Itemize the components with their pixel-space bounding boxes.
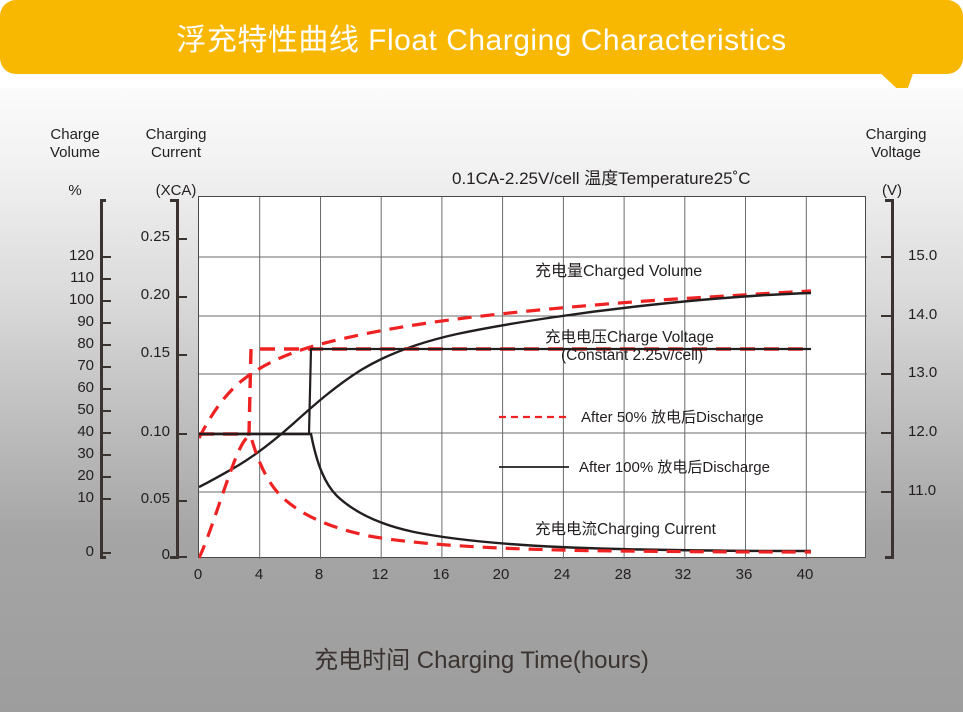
annotation-charged-volume: 充电量Charged Volume: [535, 257, 702, 281]
legend-label-solid: After 100% 放电后Discharge: [579, 456, 770, 477]
left-inner-axis-top-cap: [170, 199, 179, 202]
series-charging-current-dashed: [199, 436, 811, 558]
header-banner: 浮充特性曲线 Float Charging Characteristics: [0, 0, 963, 100]
left-outer-axis-top-cap: [100, 199, 106, 202]
annotation-charge-voltage-line1: 充电电压Charge Voltage: [545, 325, 714, 347]
grid-vertical: [260, 197, 807, 559]
right-axis-bottom-cap: [885, 556, 894, 559]
page-title: 浮充特性曲线 Float Charging Characteristics: [0, 0, 963, 74]
left-outer-axis-caption: Charge Volume: [30, 126, 120, 163]
left-outer-axis-rail: [100, 199, 103, 559]
chart-condition-note: 0.1CA-2.25V/cell 温度Temperature25˚C: [452, 164, 751, 189]
right-axis-unit: (V): [870, 182, 914, 199]
right-axis-caption: Charging Voltage: [848, 126, 944, 163]
chart-svg: [199, 197, 867, 559]
left-inner-axis-caption: Charging Current: [128, 126, 224, 163]
annotation-charge-voltage-line2: (Constant 2.25v/cell): [561, 347, 703, 365]
x-axis-title: 充电时间 Charging Time(hours): [0, 640, 963, 675]
right-axis-top-cap: [885, 199, 894, 202]
plot-area: 充电量Charged Volume 充电电压Charge Voltage (Co…: [198, 196, 866, 558]
left-outer-axis-bottom-cap: [100, 556, 106, 559]
legend-label-dashed: After 50% 放电后Discharge: [581, 406, 764, 427]
left-outer-axis-unit: %: [58, 182, 92, 199]
right-axis-rail: [891, 199, 894, 559]
annotation-charging-current: 充电电流Charging Current: [535, 517, 716, 539]
left-inner-axis-rail: [176, 199, 179, 559]
